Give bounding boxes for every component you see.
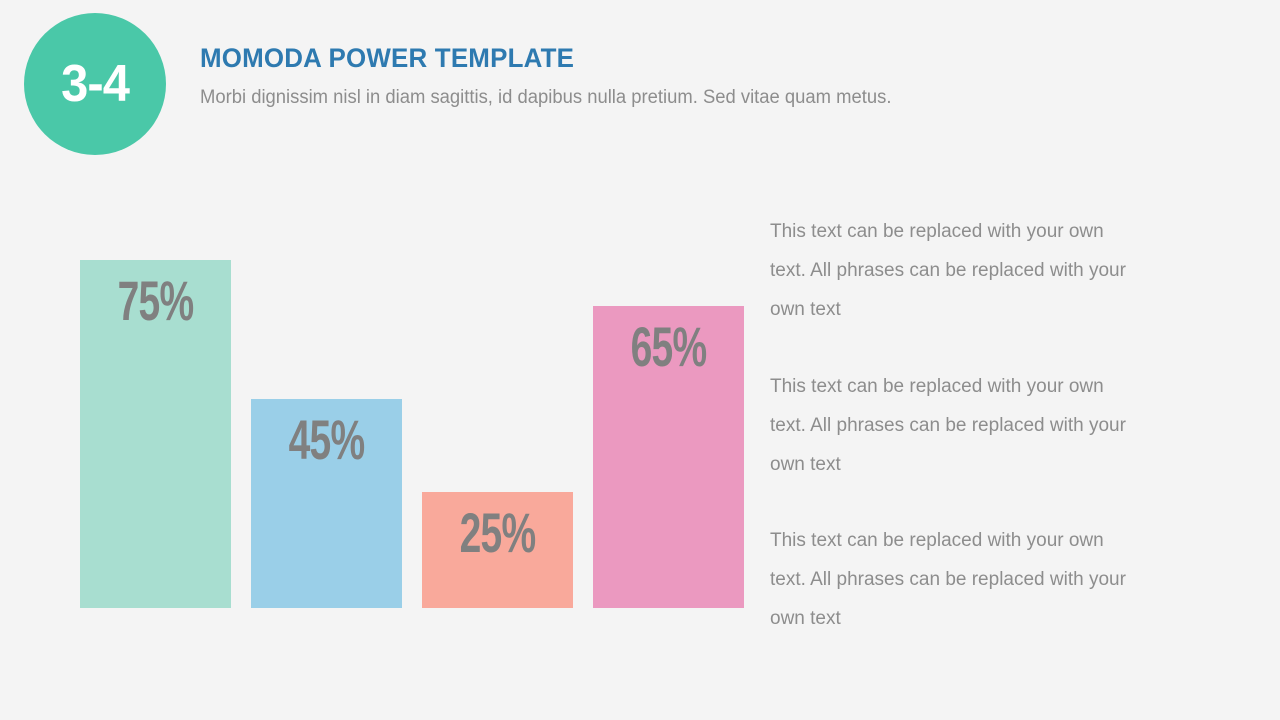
bar-column[interactable]: 45% <box>251 399 402 608</box>
description-paragraph: This text can be replaced with your own … <box>770 212 1136 329</box>
description-paragraph: This text can be replaced with your own … <box>770 521 1136 638</box>
bar-value-label: 75% <box>97 272 215 330</box>
bar-column[interactable]: 65% <box>593 306 744 608</box>
bar-chart: 75% 45% 25% 65% <box>0 0 770 720</box>
description-paragraph: This text can be replaced with your own … <box>770 367 1136 484</box>
bar-column[interactable]: 75% <box>80 260 231 608</box>
bar-value-label: 65% <box>610 318 728 376</box>
bar-value-label: 45% <box>268 411 386 469</box>
bar-value-label: 25% <box>439 504 557 562</box>
bar-column[interactable]: 25% <box>422 492 573 608</box>
description-column: This text can be replaced with your own … <box>770 0 1170 720</box>
slide-canvas: 3-4 MOMODA POWER TEMPLATE Morbi dignissi… <box>0 0 1280 720</box>
